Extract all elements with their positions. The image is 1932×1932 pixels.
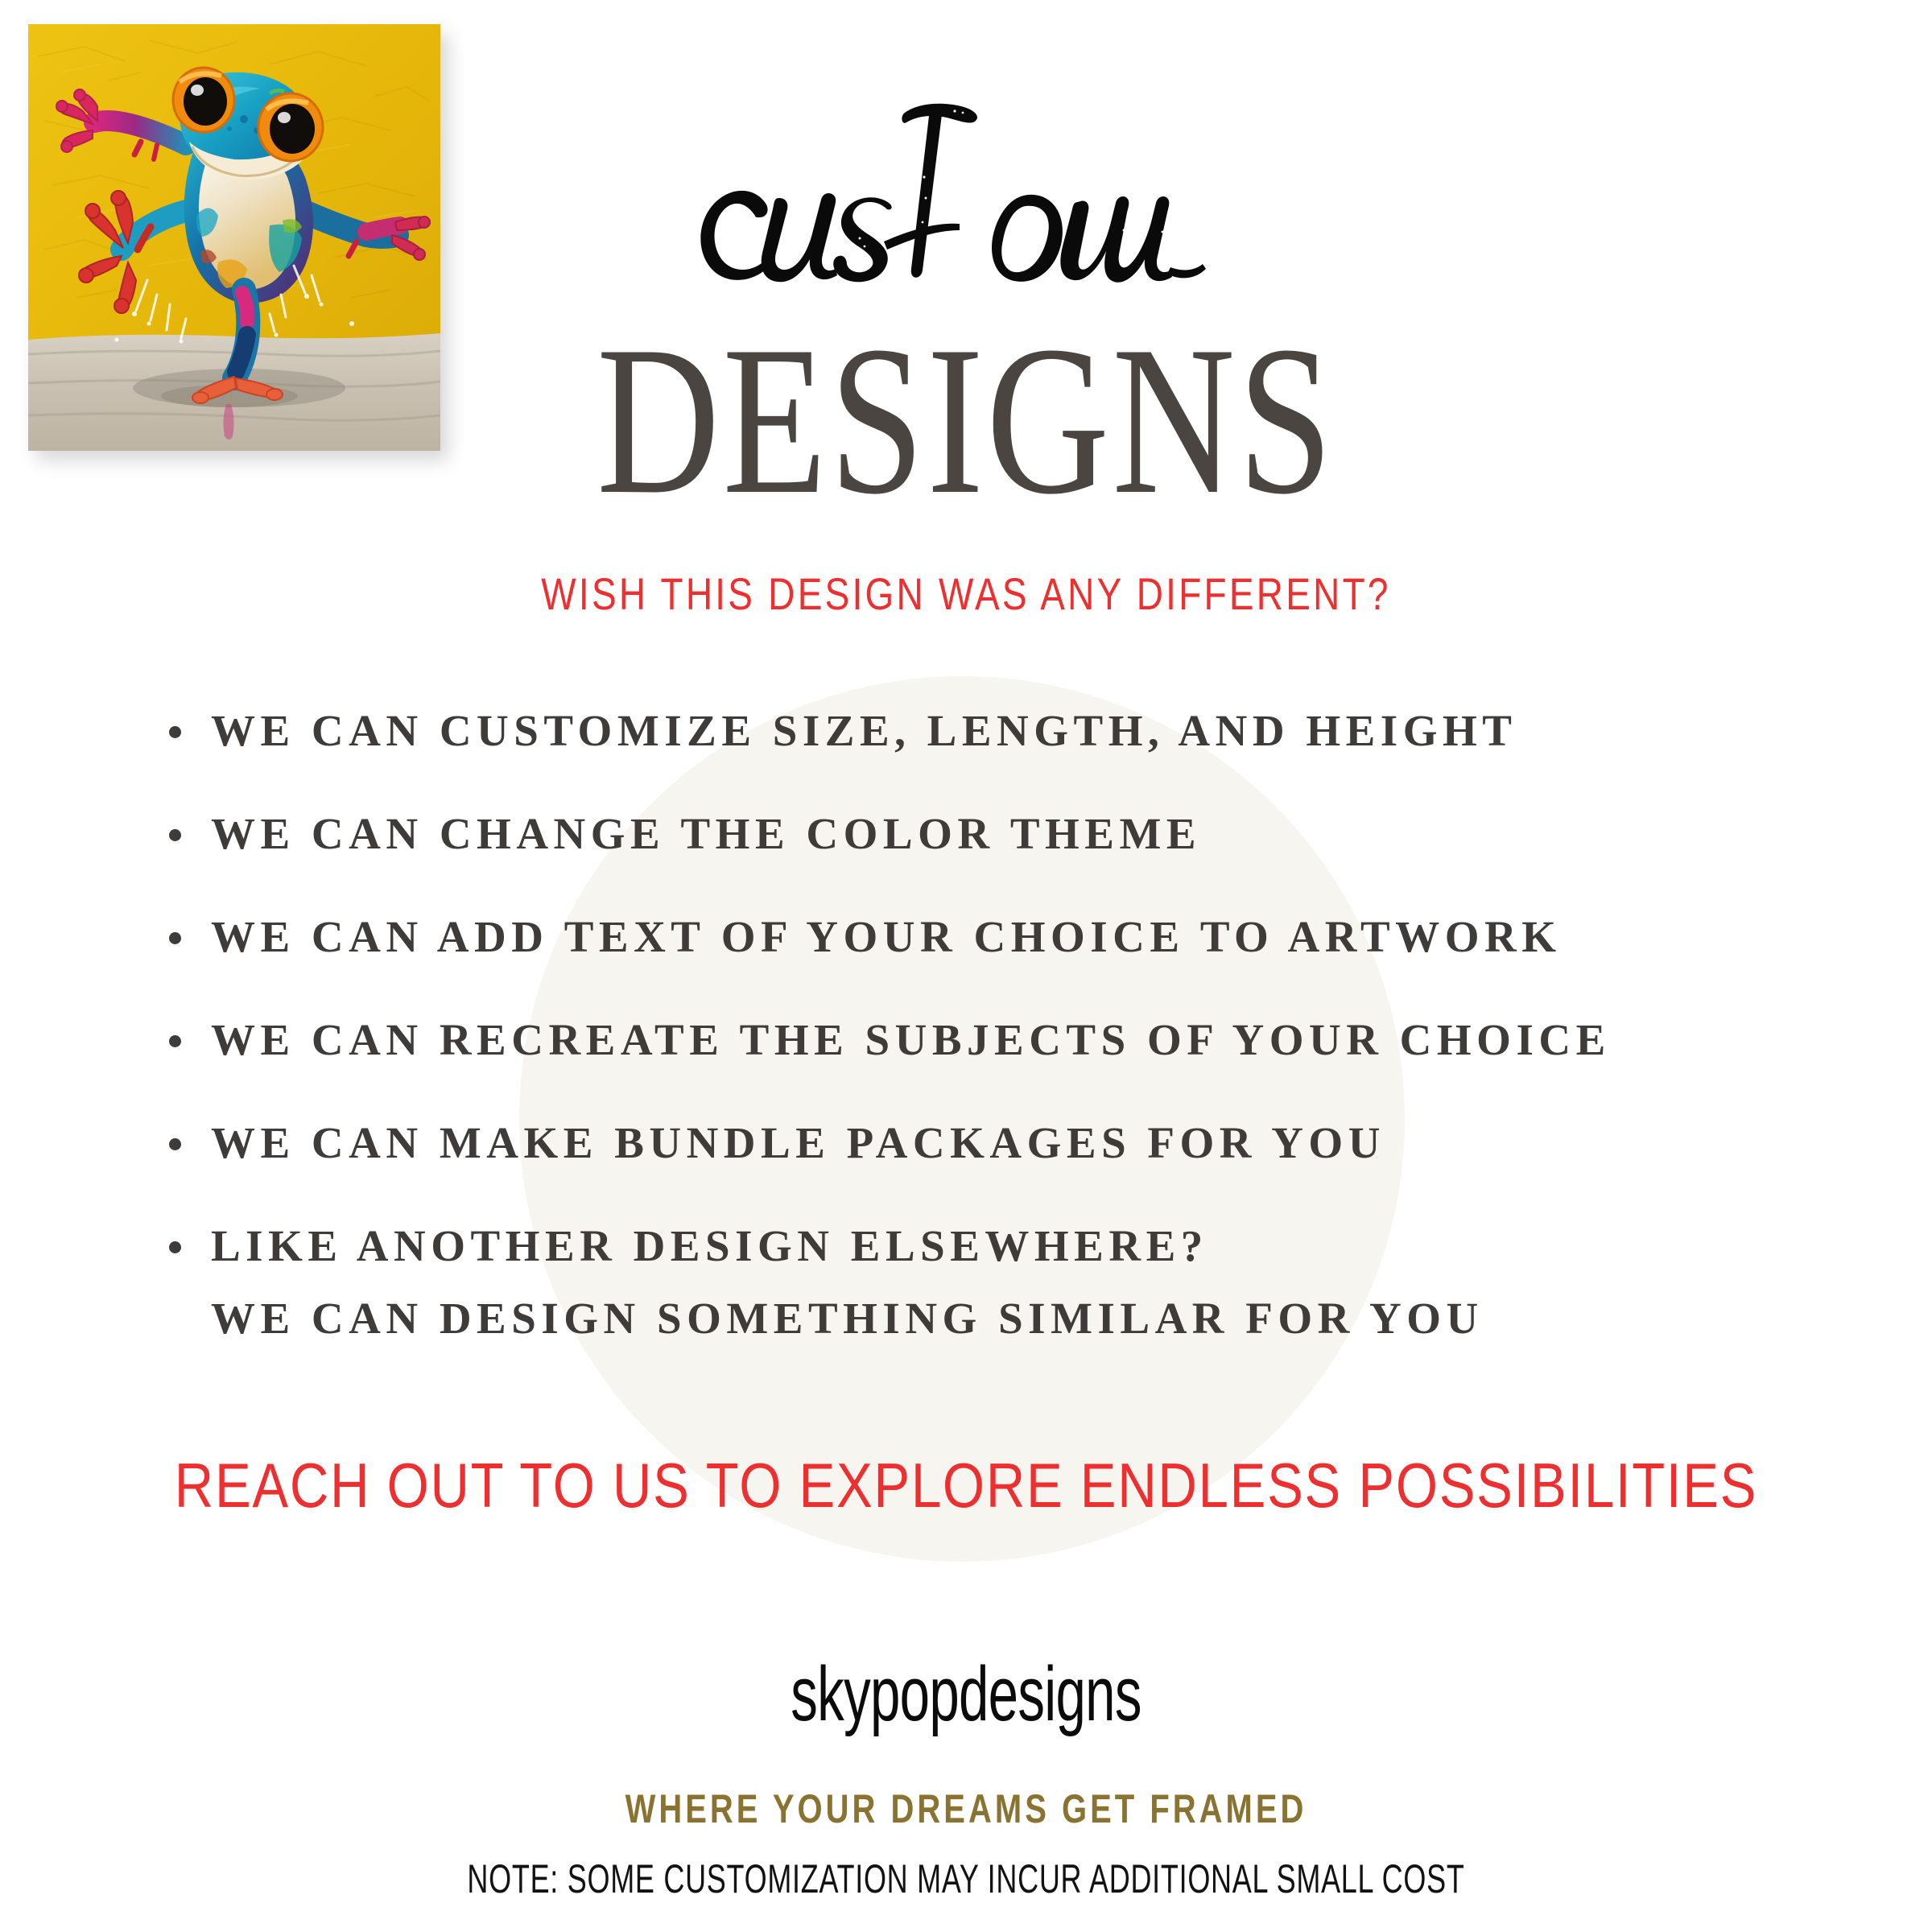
list-item-label: WE CAN MAKE BUNDLE PACKAGES FOR YOU [211,1118,1385,1167]
bullet-dot-icon [169,1241,181,1253]
list-item: WE CAN MAKE BUNDLE PACKAGES FOR YOU [161,1121,1851,1165]
feature-list: WE CAN CUSTOMIZE SIZE, LENGTH, AND HEIGH… [161,708,1851,1327]
frog-painting-svg [28,24,440,451]
footer-note: NOTE: SOME CUSTOMIZATION MAY INCUR ADDIT… [270,1856,1662,1902]
call-to-action-text: REACH OUT TO US TO EXPLORE ENDLESS POSSI… [135,1449,1797,1522]
custom-script-svg [676,80,1256,322]
bullet-dot-icon [169,932,181,944]
bullet-dot-icon [169,1138,181,1150]
subtitle-question: WISH THIS DESIGN WAS ANY DIFFERENT? [174,568,1758,620]
bullet-dot-icon [169,726,181,738]
list-item: WE CAN CUSTOMIZE SIZE, LENGTH, AND HEIGH… [161,708,1851,753]
list-item-label: WE CAN RECREATE THE SUBJECTS OF YOUR CHO… [211,1015,1611,1064]
bullet-dot-icon [169,829,181,841]
brand-tagline: WHERE YOUR DREAMS GET FRAMED [193,1785,1739,1832]
list-item: WE CAN CHANGE THE COLOR THEME [161,811,1851,856]
list-item-continuation: WE CAN DESIGN SOMETHING SIMILAR FOR YOU [211,1296,1484,1340]
artwork-thumbnail-frame [28,24,440,451]
list-item: WE CAN ADD TEXT OF YOUR CHOICE TO ARTWOR… [161,914,1851,959]
list-item: LIKE ANOTHER DESIGN ELSEWHERE? [161,1224,1851,1268]
custom-script-word [676,80,1256,322]
list-item-label: LIKE ANOTHER DESIGN ELSEWHERE? [211,1221,1208,1270]
frog-left-eye [173,68,234,132]
list-item-label: WE CAN CHANGE THE COLOR THEME [211,809,1201,858]
frog-right-eye [258,93,323,161]
brand-logo-text: skypopdesigns [290,1650,1642,1739]
list-item-label: WE CAN ADD TEXT OF YOUR CHOICE TO ARTWOR… [211,912,1562,961]
list-item: WE CAN RECREATE THE SUBJECTS OF YOUR CHO… [161,1018,1851,1062]
bullet-dot-icon [169,1035,181,1047]
list-item-label: WE CAN CUSTOMIZE SIZE, LENGTH, AND HEIGH… [211,706,1517,755]
